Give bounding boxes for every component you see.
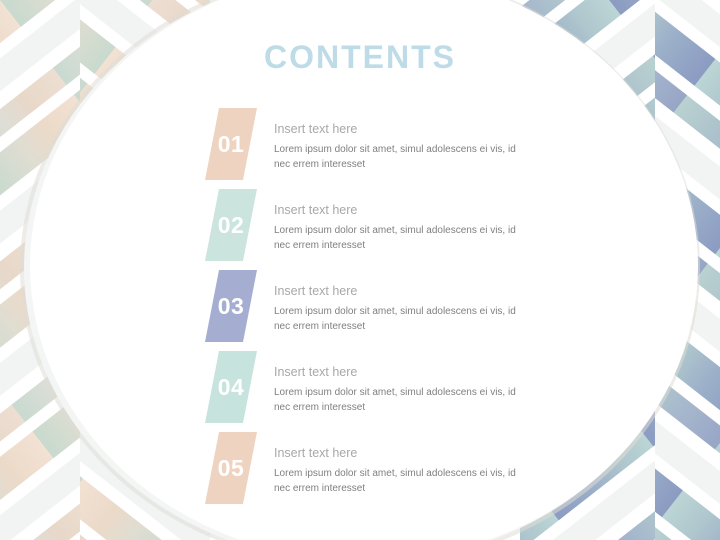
item-heading: Insert text here xyxy=(274,201,534,220)
item-number: 01 xyxy=(205,108,257,180)
item-number: 04 xyxy=(205,351,257,423)
list-item[interactable]: 05 Insert text here Lorem ipsum dolor si… xyxy=(205,432,545,513)
item-number: 03 xyxy=(205,270,257,342)
item-body: Lorem ipsum dolor sit amet, simul adoles… xyxy=(274,223,534,254)
item-body: Lorem ipsum dolor sit amet, simul adoles… xyxy=(274,466,534,497)
list-item[interactable]: 01 Insert text here Lorem ipsum dolor si… xyxy=(205,108,545,189)
number-badge: 01 xyxy=(205,108,257,180)
number-badge: 05 xyxy=(205,432,257,504)
list-item[interactable]: 03 Insert text here Lorem ipsum dolor si… xyxy=(205,270,545,351)
number-badge: 04 xyxy=(205,351,257,423)
page-title: CONTENTS xyxy=(0,40,720,75)
item-number: 05 xyxy=(205,432,257,504)
contents-list: 01 Insert text here Lorem ipsum dolor si… xyxy=(205,108,545,513)
item-body: Lorem ipsum dolor sit amet, simul adoles… xyxy=(274,385,534,416)
slide-canvas: CONTENTS 01 Insert text here Lorem ipsum… xyxy=(0,0,720,540)
item-number: 02 xyxy=(205,189,257,261)
item-heading: Insert text here xyxy=(274,444,534,463)
item-text-block: Insert text here Lorem ipsum dolor sit a… xyxy=(274,444,534,497)
list-item[interactable]: 04 Insert text here Lorem ipsum dolor si… xyxy=(205,351,545,432)
item-text-block: Insert text here Lorem ipsum dolor sit a… xyxy=(274,363,534,416)
item-heading: Insert text here xyxy=(274,363,534,382)
item-heading: Insert text here xyxy=(274,120,534,139)
item-body: Lorem ipsum dolor sit amet, simul adoles… xyxy=(274,142,534,173)
item-text-block: Insert text here Lorem ipsum dolor sit a… xyxy=(274,201,534,254)
list-item[interactable]: 02 Insert text here Lorem ipsum dolor si… xyxy=(205,189,545,270)
number-badge: 02 xyxy=(205,189,257,261)
item-text-block: Insert text here Lorem ipsum dolor sit a… xyxy=(274,282,534,335)
item-body: Lorem ipsum dolor sit amet, simul adoles… xyxy=(274,304,534,335)
content-layer: CONTENTS 01 Insert text here Lorem ipsum… xyxy=(0,0,720,540)
item-text-block: Insert text here Lorem ipsum dolor sit a… xyxy=(274,120,534,173)
number-badge: 03 xyxy=(205,270,257,342)
item-heading: Insert text here xyxy=(274,282,534,301)
